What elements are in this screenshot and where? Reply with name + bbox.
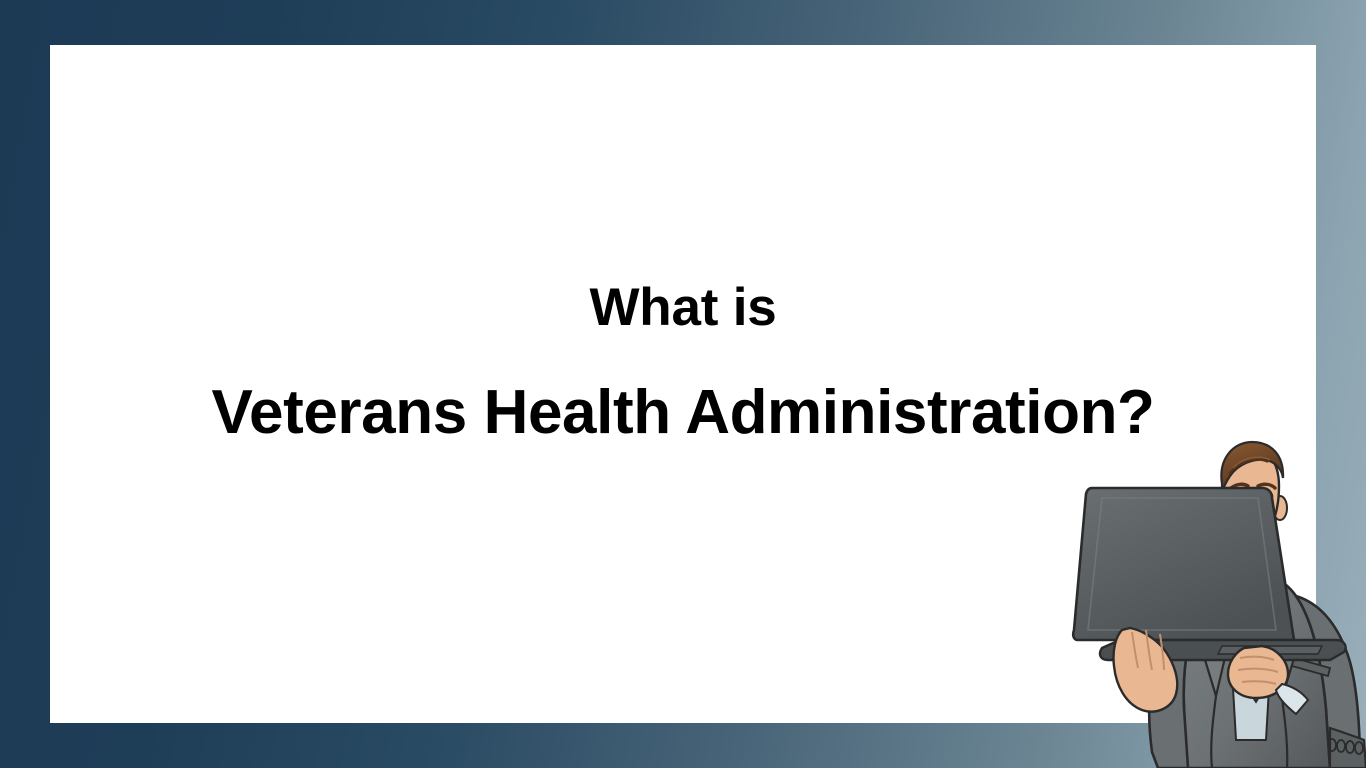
slide-title-line-2: Veterans Health Administration? — [50, 380, 1316, 445]
slide-content-card: What is Veterans Health Administration? — [50, 45, 1316, 723]
presentation-slide: What is Veterans Health Administration? — [0, 0, 1366, 768]
slide-title-line-1: What is — [50, 280, 1316, 336]
slide-title-block: What is Veterans Health Administration? — [50, 45, 1316, 445]
sleeve-buttons — [1328, 739, 1363, 754]
